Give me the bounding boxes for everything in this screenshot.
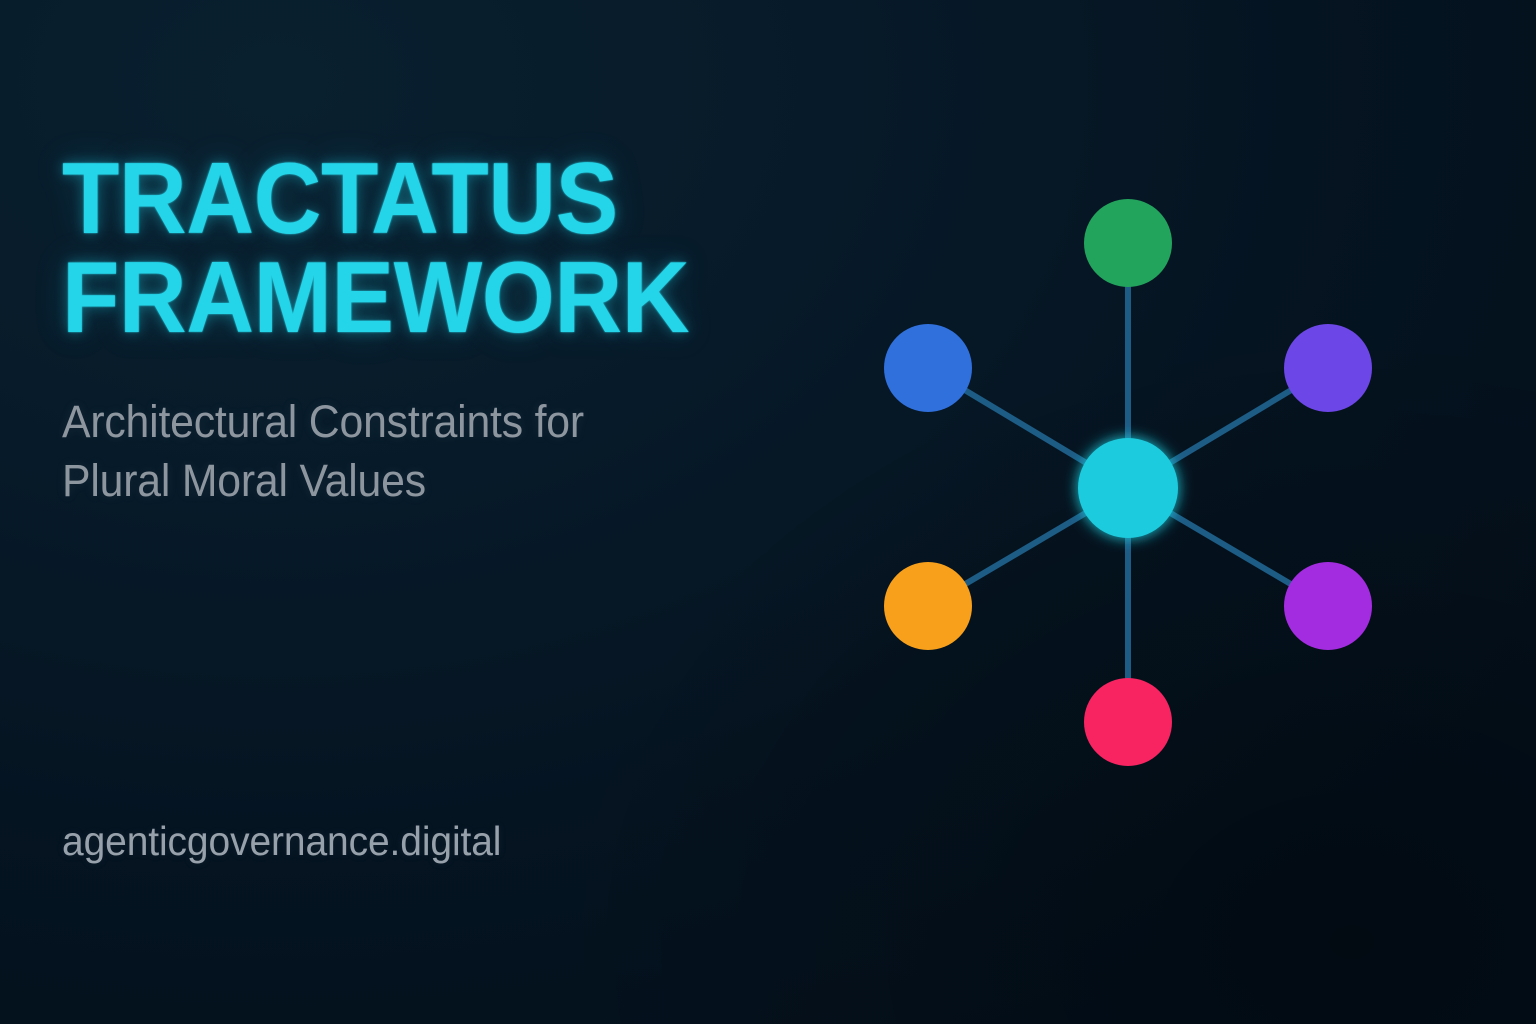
node-layer <box>884 199 1372 766</box>
node-upper-right-node[interactable] <box>1284 324 1372 412</box>
page-subtitle: Architectural Constraints for Plural Mor… <box>62 348 784 511</box>
node-upper-left-node[interactable] <box>884 324 972 412</box>
title-card: TRACTATUS FRAMEWORK Architectural Constr… <box>0 0 1536 1024</box>
node-lower-right-node[interactable] <box>1284 562 1372 650</box>
page-title: TRACTATUS FRAMEWORK <box>62 150 769 348</box>
hub-node[interactable] <box>1078 438 1178 538</box>
node-lower-left-node[interactable] <box>884 562 972 650</box>
hub-and-spoke-diagram <box>840 150 1440 830</box>
node-bottom-node[interactable] <box>1084 678 1172 766</box>
text-block: TRACTATUS FRAMEWORK Architectural Constr… <box>62 150 822 511</box>
footer-url[interactable]: agenticgovernance.digital <box>62 818 501 865</box>
node-top-node[interactable] <box>1084 199 1172 287</box>
